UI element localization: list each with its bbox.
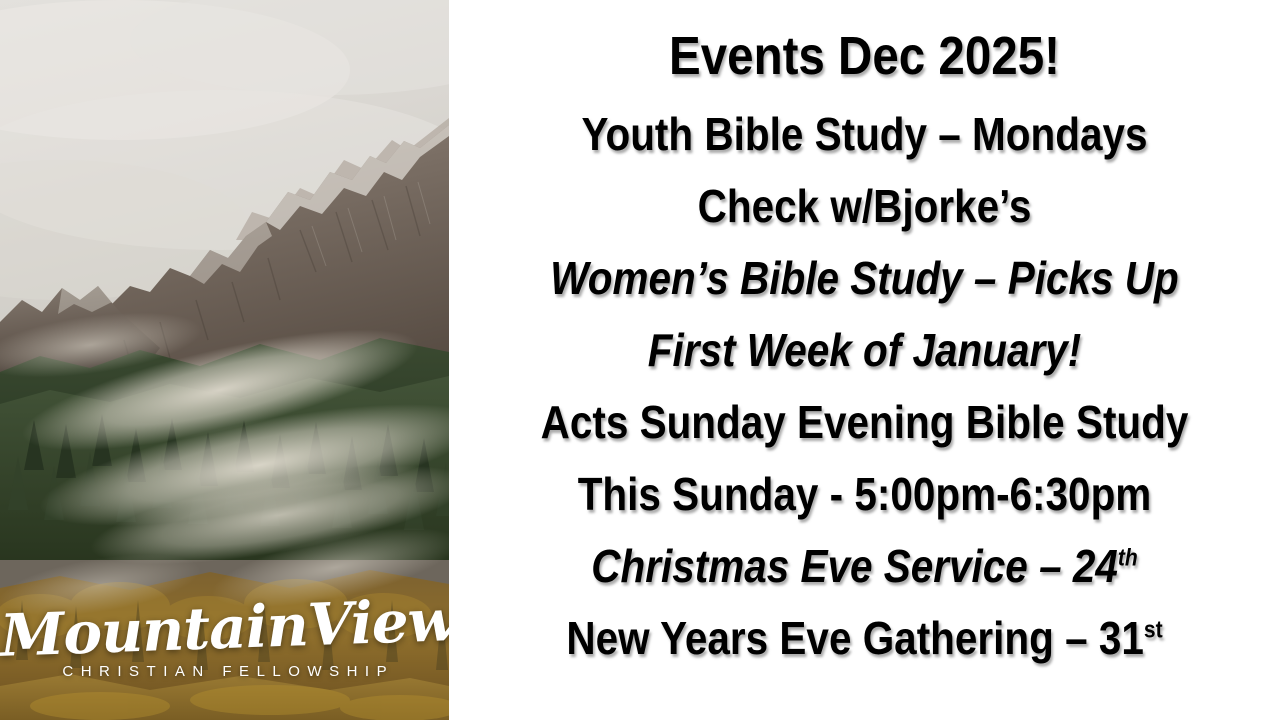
- ordinal-suffix: th: [1118, 545, 1138, 572]
- announcement-line: New Years Eve Gathering – 31st: [511, 602, 1218, 674]
- announcement-line-text: Christmas Eve Service – 24: [591, 540, 1118, 592]
- announcements-panel: Events Dec 2025! Youth Bible Study – Mon…: [449, 0, 1280, 720]
- announcement-line: First Week of January!: [511, 314, 1218, 386]
- announcement-line: Check w/Bjorke’s: [511, 170, 1218, 242]
- announcement-slide: MountainView CHRISTIAN FELLOWSHIP Events…: [0, 0, 1280, 720]
- announcement-line: Christmas Eve Service – 24th: [511, 530, 1218, 602]
- announcement-line: Women’s Bible Study – Picks Up: [511, 242, 1218, 314]
- ordinal-suffix: st: [1144, 617, 1163, 644]
- announcement-line: This Sunday - 5:00pm-6:30pm: [511, 458, 1218, 530]
- logo: MountainView CHRISTIAN FELLOWSHIP: [0, 601, 449, 680]
- announcement-line: Youth Bible Study – Mondays: [511, 98, 1218, 170]
- announcement-title: Events Dec 2025!: [511, 14, 1218, 98]
- logo-wordmark: MountainView: [0, 593, 449, 664]
- mountain-photo: MountainView CHRISTIAN FELLOWSHIP: [0, 0, 449, 720]
- announcement-line: Acts Sunday Evening Bible Study: [511, 386, 1218, 458]
- announcement-line-text: New Years Eve Gathering – 31: [566, 612, 1144, 664]
